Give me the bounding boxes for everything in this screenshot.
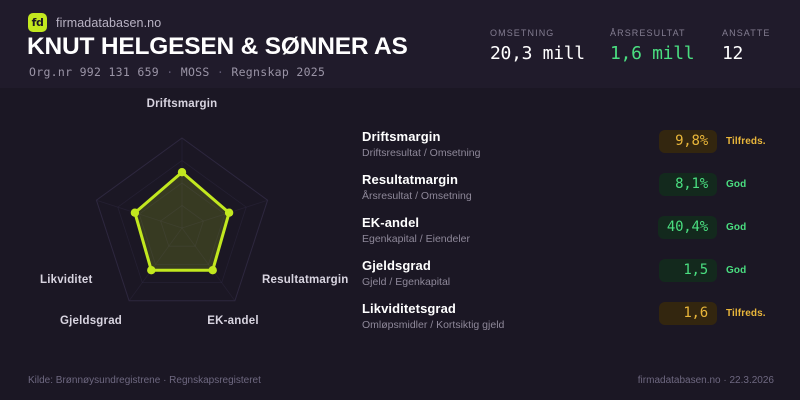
metric-text: Likviditetsgrad Omløpsmidler / Kortsikti…: [362, 300, 659, 333]
company-orgnr: Org.nr 992 131 659: [29, 65, 159, 79]
stat-omsetning: OMSETNING 20,3 mill: [490, 28, 610, 64]
stat-ansatte-value: 12: [722, 43, 778, 64]
metric-value-badge: 9,8%: [659, 130, 717, 153]
card-footer: Kilde: Brønnøysundregistrene · Regnskaps…: [0, 364, 800, 400]
radar-axis-label-ek-andel: EK-andel: [207, 315, 258, 327]
stat-arsresultat: ÅRSRESULTAT 1,6 mill: [610, 28, 722, 64]
metric-formula: Gjeld / Egenkapital: [362, 275, 659, 290]
metric-row[interactable]: Gjeldsgrad Gjeld / Egenkapital 1,5 God: [362, 257, 774, 300]
stat-arsresultat-label: ÅRSRESULTAT: [610, 28, 722, 38]
metric-right: 1,5 God: [659, 257, 774, 282]
header-stats: OMSETNING 20,3 mill ÅRSRESULTAT 1,6 mill…: [490, 28, 778, 64]
metric-text: Resultatmargin Årsresultat / Omsetning: [362, 171, 659, 204]
company-city: MOSS: [181, 65, 210, 79]
metric-row[interactable]: Likviditetsgrad Omløpsmidler / Kortsikti…: [362, 300, 774, 343]
metric-value-badge: 1,6: [659, 302, 717, 325]
metric-right: 8,1% God: [659, 171, 774, 196]
metric-formula: Driftsresultat / Omsetning: [362, 146, 659, 161]
metric-name: Likviditetsgrad: [362, 301, 659, 317]
radar-axis-label-driftsmargin: Driftsmargin: [147, 98, 218, 110]
metric-row[interactable]: Driftsmargin Driftsresultat / Omsetning …: [362, 128, 774, 171]
stat-omsetning-label: OMSETNING: [490, 28, 610, 38]
metric-text: Gjeldsgrad Gjeld / Egenkapital: [362, 257, 659, 290]
footer-source: Kilde: Brønnøysundregistrene · Regnskaps…: [28, 375, 261, 386]
meta-separator-2: ·: [217, 65, 224, 79]
metric-right: 40,4% God: [658, 214, 774, 239]
stat-ansatte: ANSATTE 12: [722, 28, 778, 64]
brand-name: firmadatabasen.no: [56, 16, 161, 30]
metric-formula: Egenkapital / Eiendeler: [362, 232, 658, 247]
metric-text: EK-andel Egenkapital / Eiendeler: [362, 214, 658, 247]
radar-axis-label-gjeldsgrad: Gjeldsgrad: [60, 315, 122, 327]
firmadatabasen-logo-icon: fd: [28, 13, 47, 32]
page-title: KNUT HELGESEN & SØNNER AS: [27, 33, 408, 61]
footer-credit: firmadatabasen.no · 22.3.2026: [638, 375, 774, 386]
stat-arsresultat-value: 1,6 mill: [610, 43, 722, 64]
metric-text: Driftsmargin Driftsresultat / Omsetning: [362, 128, 659, 161]
metric-value-badge: 1,5: [659, 259, 717, 282]
metric-name: Gjeldsgrad: [362, 258, 659, 274]
metric-right: 9,8% Tilfreds.: [659, 128, 774, 153]
brand[interactable]: fd firmadatabasen.no: [28, 13, 161, 32]
stat-omsetning-value: 20,3 mill: [490, 43, 610, 64]
status-badge: Tilfreds.: [726, 308, 774, 319]
radar-axis-label-likviditet: Likviditet: [40, 274, 92, 286]
status-badge: Tilfreds.: [726, 136, 774, 147]
status-badge: God: [726, 265, 774, 276]
metric-name: Driftsmargin: [362, 129, 659, 145]
metrics-list: Driftsmargin Driftsresultat / Omsetning …: [362, 128, 774, 343]
metric-row[interactable]: EK-andel Egenkapital / Eiendeler 40,4% G…: [362, 214, 774, 257]
metric-name: Resultatmargin: [362, 172, 659, 188]
company-meta: Org.nr 992 131 659 · MOSS · Regnskap 202…: [29, 65, 325, 79]
accounting-year: Regnskap 2025: [231, 65, 325, 79]
metric-row[interactable]: Resultatmargin Årsresultat / Omsetning 8…: [362, 171, 774, 214]
card-header: fd firmadatabasen.no KNUT HELGESEN & SØN…: [0, 0, 800, 88]
meta-separator-1: ·: [166, 65, 173, 79]
metric-right: 1,6 Tilfreds.: [659, 300, 774, 325]
metric-value-badge: 8,1%: [659, 173, 717, 196]
metric-formula: Årsresultat / Omsetning: [362, 189, 659, 204]
status-badge: God: [726, 179, 774, 190]
radar-chart: Driftsmargin Resultatmargin EK-andel Gje…: [0, 88, 360, 348]
metric-value-badge: 40,4%: [658, 216, 717, 239]
stat-ansatte-label: ANSATTE: [722, 28, 778, 38]
metric-name: EK-andel: [362, 215, 658, 231]
metric-formula: Omløpsmidler / Kortsiktig gjeld: [362, 318, 659, 333]
radar-axis-label-resultatmargin: Resultatmargin: [262, 274, 349, 286]
status-badge: God: [726, 222, 774, 233]
radar-chart-svg: [0, 88, 360, 348]
company-key-figures-card: fd firmadatabasen.no KNUT HELGESEN & SØN…: [0, 0, 800, 400]
